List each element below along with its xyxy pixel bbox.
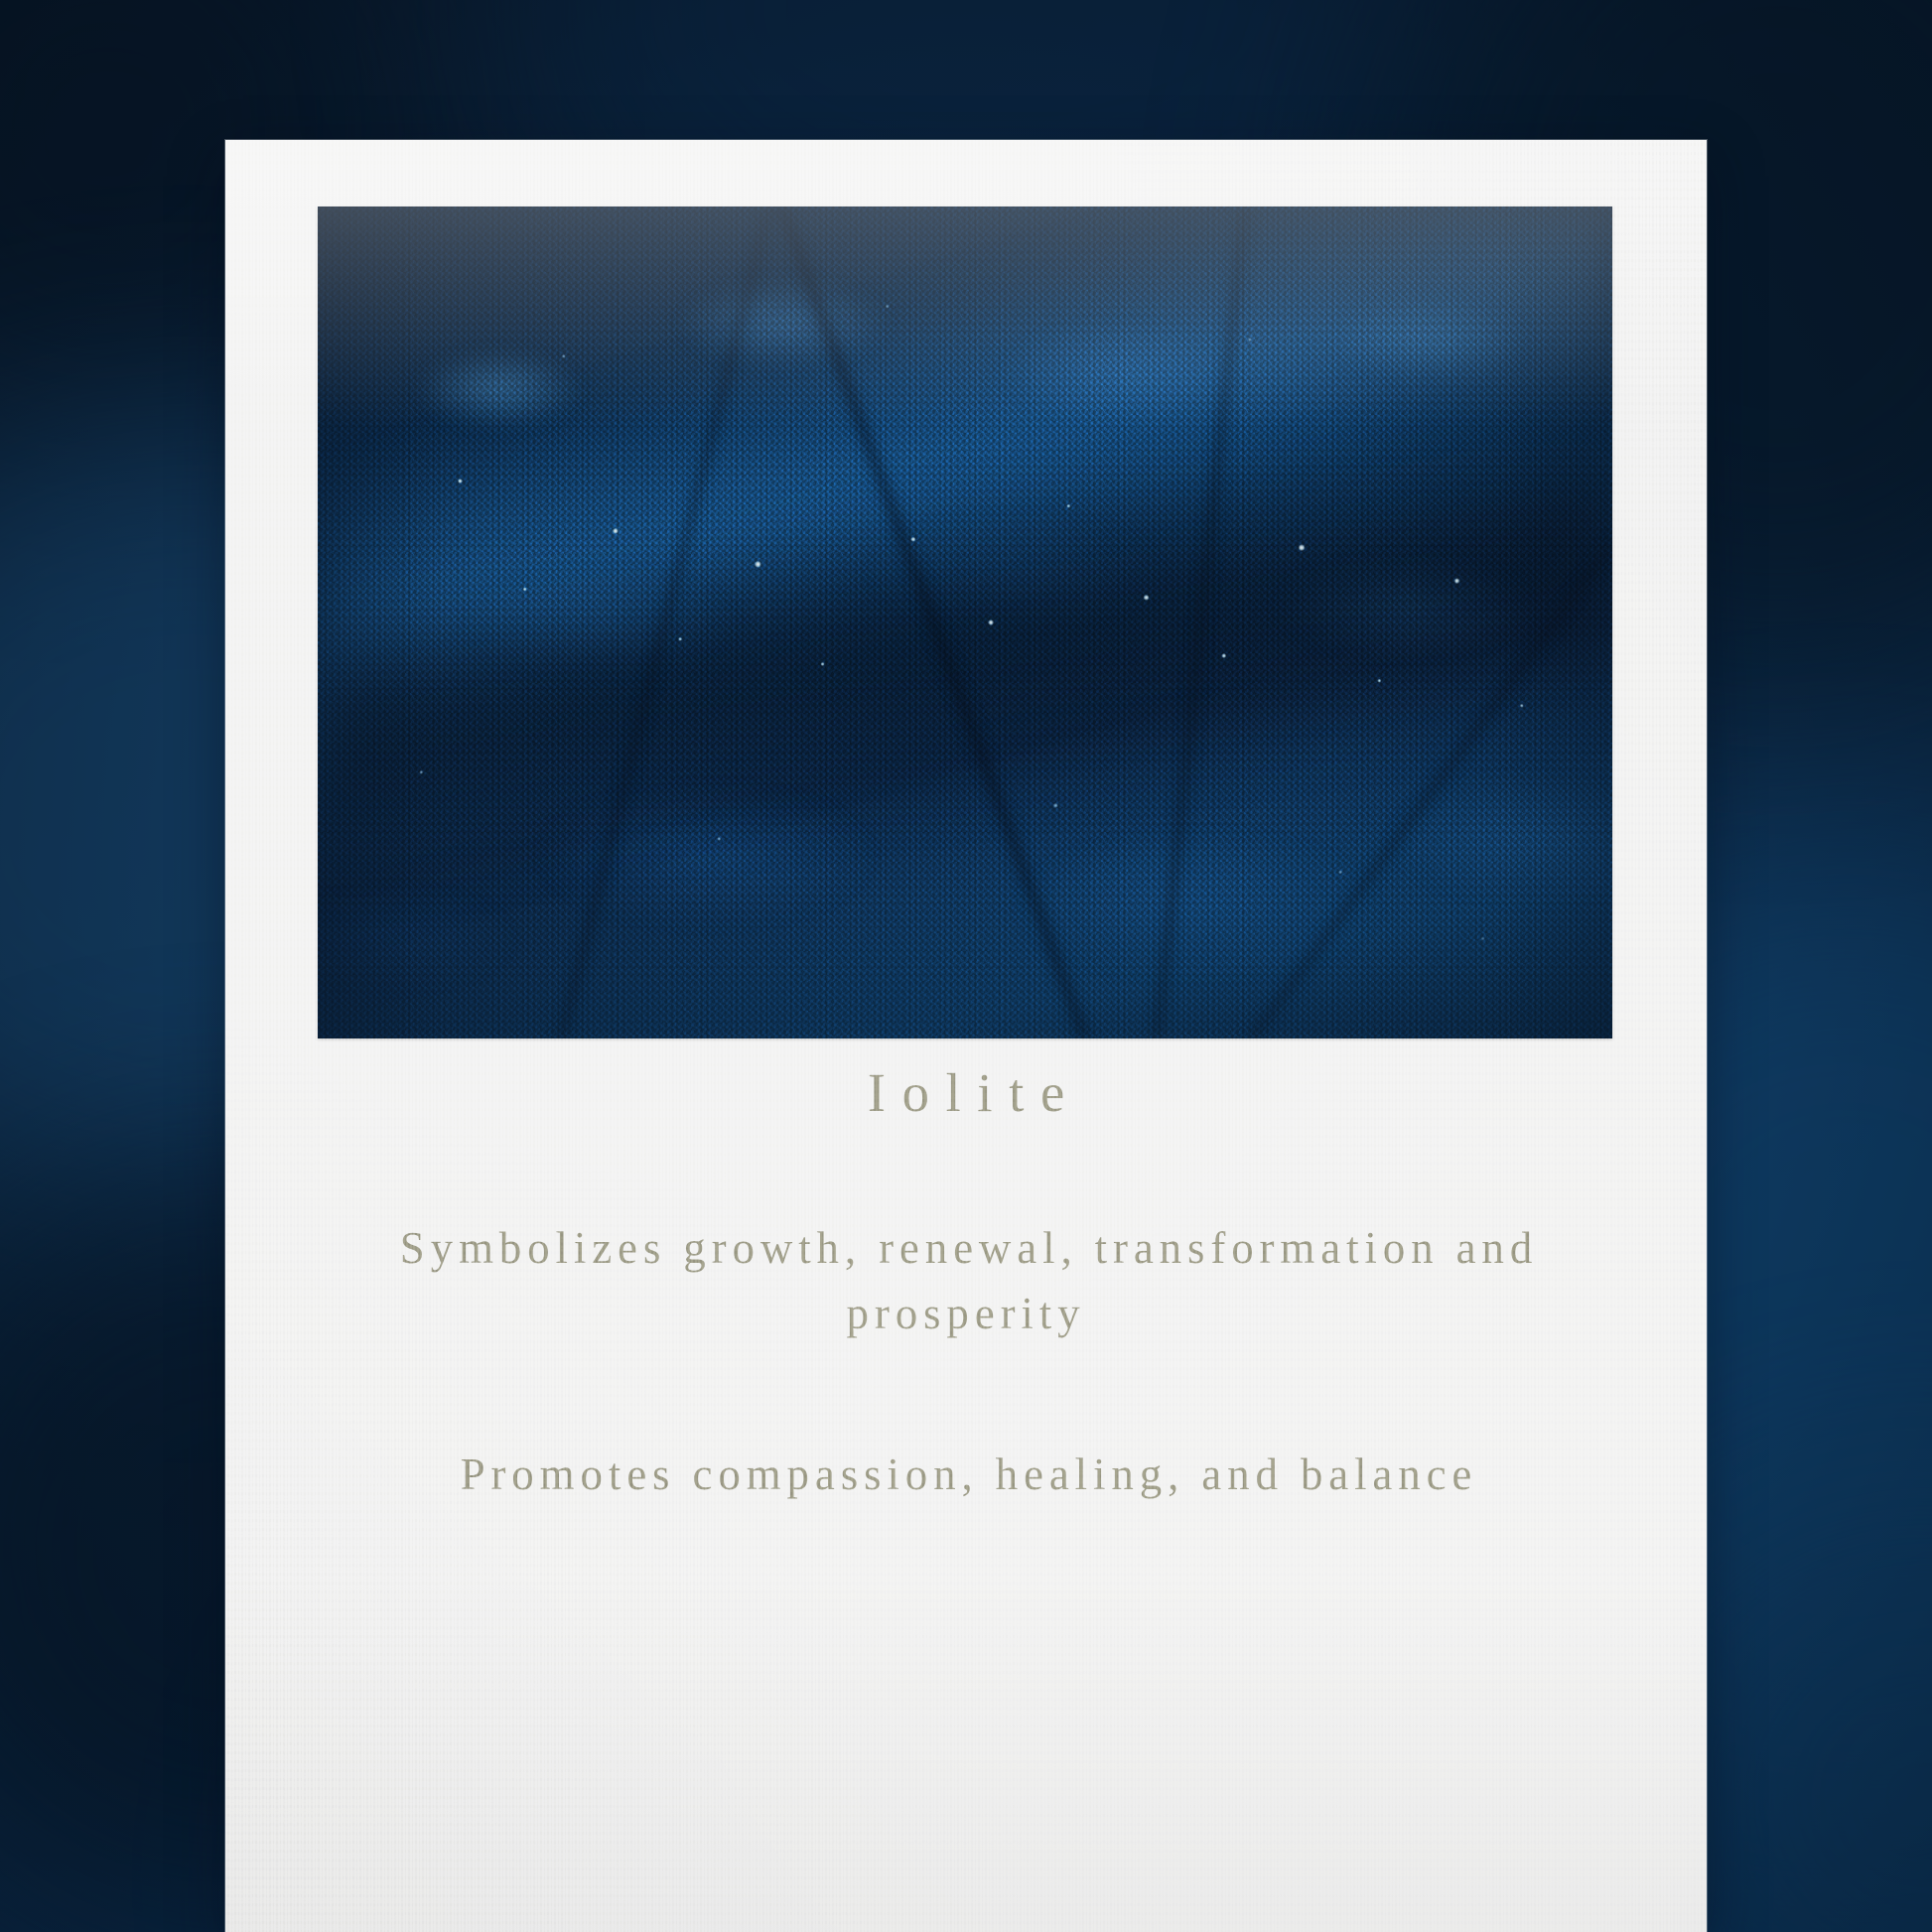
photo-vignette — [318, 207, 1612, 1038]
gemstone-title: Iolite — [225, 1063, 1707, 1124]
photo-light-band — [318, 207, 1612, 1038]
photo-depth-of-field — [318, 207, 1612, 1038]
gemstone-card: Iolite Symbolizes growth, renewal, trans… — [225, 140, 1707, 1932]
photo-sparkles — [318, 207, 1612, 1038]
caption-block: Iolite Symbolizes growth, renewal, trans… — [225, 1063, 1707, 1507]
photo-fissures — [318, 207, 1612, 1038]
photo-mineral-grain — [318, 207, 1612, 1038]
iolite-stone-macro-photo — [318, 207, 1612, 1038]
photo-relief-lumps — [318, 207, 1612, 1038]
gemstone-description-line-2: Promotes compassion, healing, and balanc… — [225, 1442, 1707, 1508]
gemstone-description-line-1: Symbolizes growth, renewal, transformati… — [225, 1215, 1707, 1347]
photo-base-gradient — [318, 207, 1612, 1038]
photo-dark-trough — [318, 207, 1612, 1038]
poster-canvas: Iolite Symbolizes growth, renewal, trans… — [0, 0, 1932, 1932]
